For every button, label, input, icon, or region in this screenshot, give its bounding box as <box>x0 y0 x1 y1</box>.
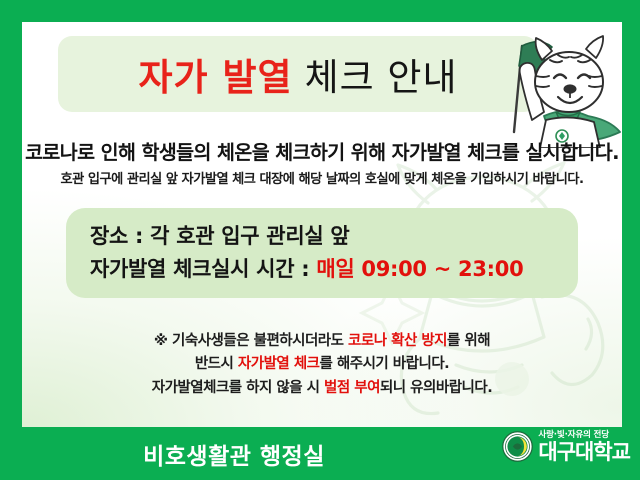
headline-sub: 호관 입구에 관리실 앞 자가발열 체크 대장에 해당 날짜의 호실에 맞게 체… <box>22 168 622 187</box>
university-emblem-icon <box>502 431 533 462</box>
poster-canvas: 자가 발열 체크 안내 <box>22 22 622 427</box>
notice-line-2-b: 를 해주시기 바랍니다. <box>320 356 450 372</box>
footer-bar: 비호생활관 행정실 사랑·빛·자유의 전당 대구대학교 <box>0 427 640 480</box>
university-name: 대구대학교 <box>538 442 630 463</box>
notice-line-3-b: 되니 유의바랍니다. <box>380 380 492 396</box>
page-title: 자가 발열 체크 안내 <box>58 36 538 112</box>
notice-line-2: 반드시 자가발열 체크를 해주시기 바랍니다. <box>22 353 622 376</box>
notice-block: ※ 기숙사생들은 불편하시더라도 코로나 확산 방지를 위해 반드시 자가발열 … <box>22 330 622 400</box>
info-time-label: 자가발열 체크실시 시간 : <box>90 257 316 281</box>
notice-line-3: 자가발열체크를 하지 않을 시 벌점 부여되니 유의바랍니다. <box>22 377 622 400</box>
university-brand-text: 사랑·빛·자유의 전당 대구대학교 <box>538 431 630 463</box>
page-title-rest: 체크 안내 <box>305 47 458 101</box>
notice-line-1-highlight: 코로나 확산 방지 <box>348 333 447 349</box>
notice-line-2-highlight: 자가발열 체크 <box>238 356 320 372</box>
info-location-line: 장소 : 각 호관 입구 관리실 앞 <box>90 220 578 253</box>
headline-main: 코로나로 인해 학생들의 체온을 체크하기 위해 자가발열 체크를 실시합니다. <box>22 136 622 165</box>
notice-line-3-a: 자가발열체크를 하지 않을 시 <box>152 380 324 396</box>
page-title-highlight: 자가 발열 <box>139 47 293 101</box>
university-tagline: 사랑·빛·자유의 전당 <box>538 431 609 440</box>
notice-line-3-highlight: 벌점 부여 <box>324 380 380 396</box>
info-box-content: 장소 : 각 호관 입구 관리실 앞 자가발열 체크실시 시간 : 매일 09:… <box>66 208 578 298</box>
notice-line-1: ※ 기숙사생들은 불편하시더라도 코로나 확산 방지를 위해 <box>22 330 622 353</box>
poster-root: 자가 발열 체크 안내 <box>0 0 640 480</box>
info-time-value: 매일 09:00 ~ 23:00 <box>316 257 523 281</box>
footer-office-name: 비호생활관 행정실 <box>0 427 554 480</box>
info-time-line: 자가발열 체크실시 시간 : 매일 09:00 ~ 23:00 <box>90 253 578 286</box>
university-brand: 사랑·빛·자유의 전당 대구대학교 <box>502 431 630 463</box>
notice-line-2-a: 반드시 <box>195 356 238 372</box>
notice-line-1-a: ※ 기숙사생들은 불편하시더라도 <box>154 333 348 349</box>
notice-line-1-b: 를 위해 <box>447 333 490 349</box>
info-location-label: 장소 : 각 호관 입구 관리실 앞 <box>90 224 349 248</box>
